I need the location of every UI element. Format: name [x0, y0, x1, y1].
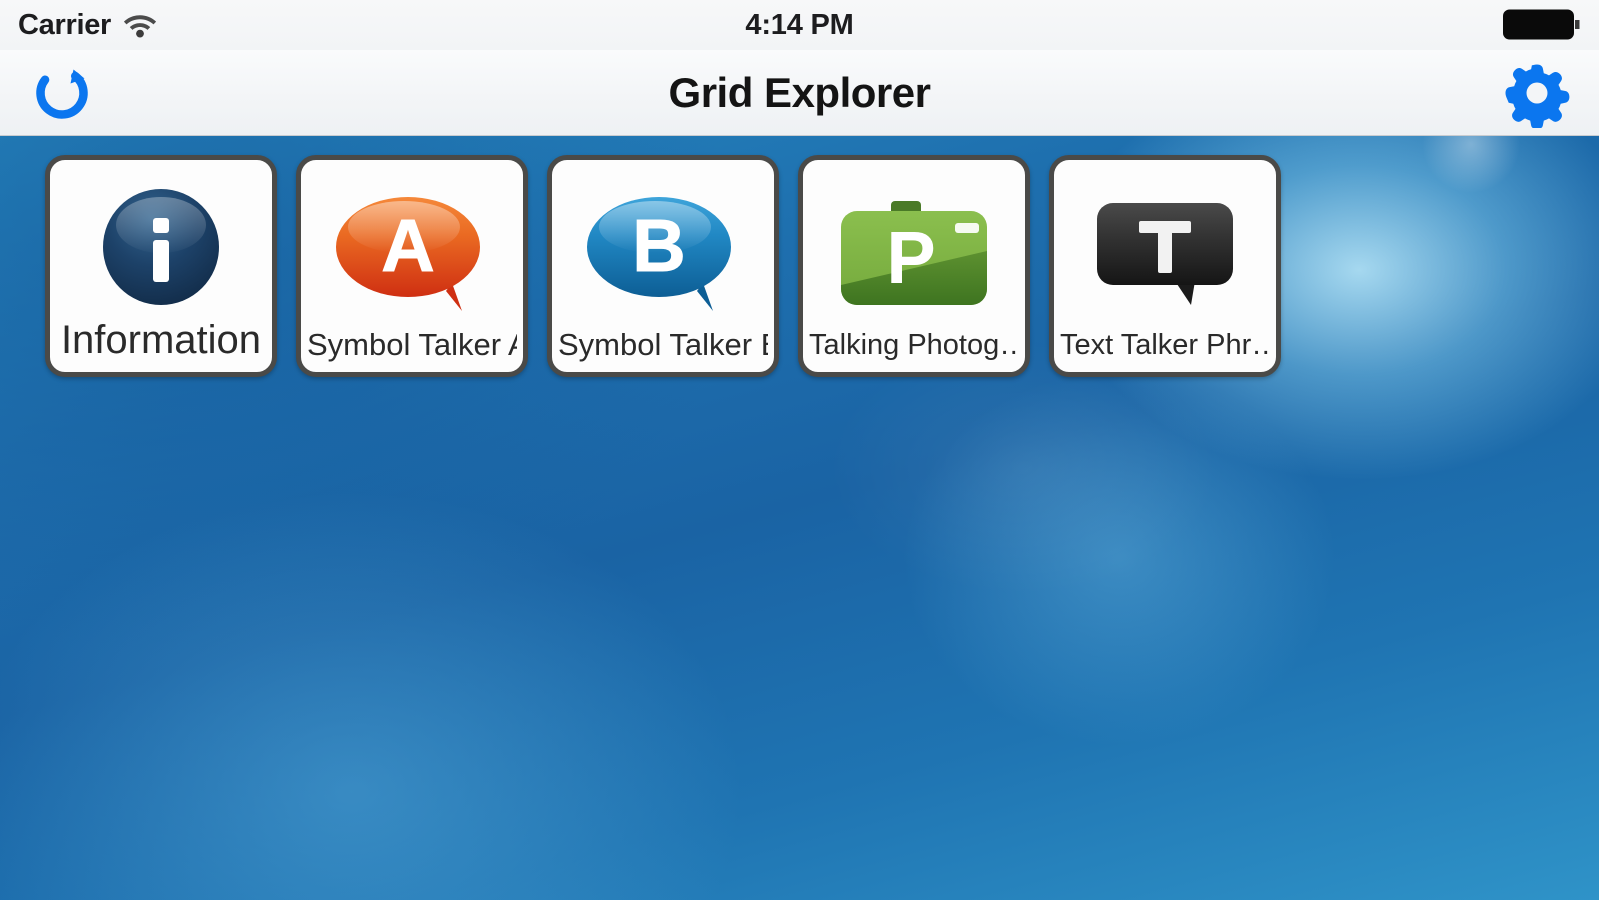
grid-container: Information	[0, 136, 1599, 900]
status-bar-right	[854, 8, 1581, 42]
grid-cell-label: Text Talker Phr…	[1060, 331, 1270, 366]
svg-text:P: P	[886, 216, 935, 299]
battery-full-icon	[1503, 8, 1581, 42]
svg-text:B: B	[632, 204, 685, 287]
svg-text:A: A	[381, 204, 434, 287]
grid-cell-icon-wrap: B	[558, 174, 768, 329]
speech-bubble-orange-icon: A	[334, 191, 490, 313]
navigation-bar-center: Grid Explorer	[146, 69, 1453, 117]
navigation-bar: Grid Explorer	[0, 50, 1599, 136]
status-bar: Carrier 4:14 PM	[0, 0, 1599, 50]
grid-cell-symbol-talker-b[interactable]: B Symbol Talker B	[547, 155, 779, 377]
settings-button[interactable]	[1501, 58, 1573, 128]
camera-green-icon: P	[835, 195, 993, 311]
wifi-icon	[123, 12, 157, 38]
status-bar-left: Carrier	[18, 9, 745, 42]
grid-cell-label: Information	[56, 320, 266, 366]
app-screen: Carrier 4:14 PM	[0, 0, 1599, 900]
gear-icon	[1501, 58, 1573, 128]
text-bubble-black-icon	[1091, 195, 1239, 311]
speech-bubble-blue-icon: B	[585, 191, 741, 313]
carrier-label: Carrier	[18, 9, 111, 42]
information-circle-icon	[99, 185, 223, 309]
grid-cell-text-talker-phrases[interactable]: Text Talker Phr…	[1049, 155, 1281, 377]
page-title: Grid Explorer	[669, 69, 931, 117]
navigation-bar-left	[26, 57, 146, 129]
grid-cell-label: Talking Photog…	[809, 331, 1019, 366]
grid-cell-icon-wrap	[56, 174, 266, 320]
grid-cell-label: Symbol Talker B	[558, 329, 768, 366]
grid-cell-icon-wrap: A	[307, 174, 517, 329]
grid-cell-label: Symbol Talker A	[307, 329, 517, 366]
grid-cell-talking-photographs[interactable]: P Talking Photog…	[798, 155, 1030, 377]
clock-label: 4:14 PM	[745, 9, 853, 42]
grid-cell-symbol-talker-a[interactable]: A Symbol Talker A	[296, 155, 528, 377]
grid-cell-information[interactable]: Information	[45, 155, 277, 377]
navigation-bar-right	[1453, 58, 1573, 128]
grid-cell-icon-wrap: P	[809, 174, 1019, 331]
refresh-icon	[26, 57, 98, 129]
refresh-button[interactable]	[26, 57, 98, 129]
status-bar-center: 4:14 PM	[745, 9, 853, 42]
grid-cell-icon-wrap	[1060, 174, 1270, 331]
